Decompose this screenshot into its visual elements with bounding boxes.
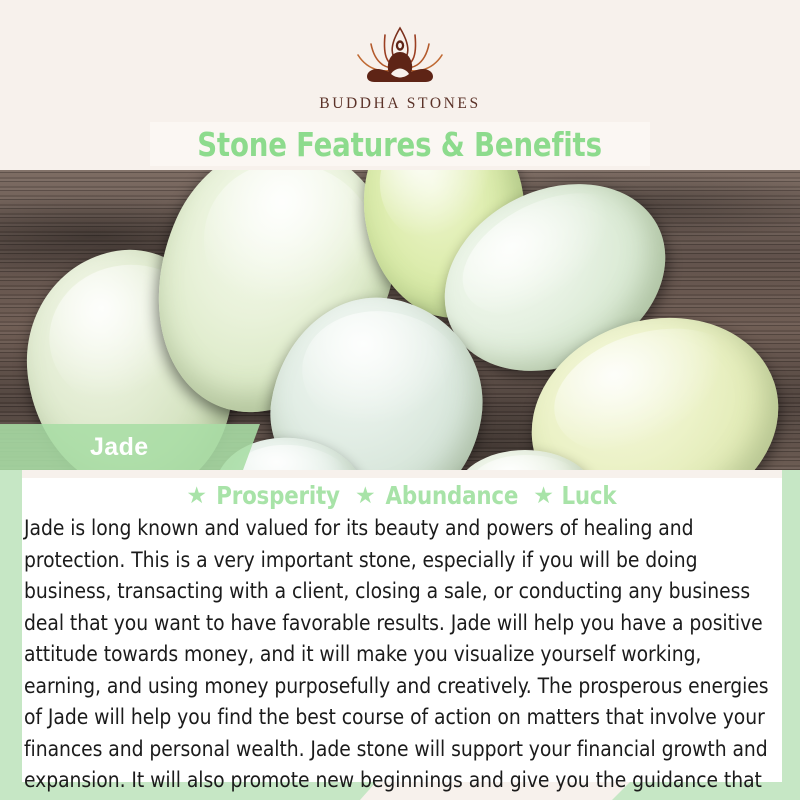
stone-name-bar: Jade xyxy=(0,424,260,470)
lotus-meditation-icon xyxy=(344,22,456,88)
page-title: Stone Features & Benefits xyxy=(198,125,603,164)
title-banner: Stone Features & Benefits xyxy=(150,122,650,166)
stone-description: Jade is long known and valued for its be… xyxy=(24,512,769,800)
star-icon: ★ xyxy=(186,484,207,507)
content-panel-top-gap xyxy=(22,470,782,478)
star-icon: ★ xyxy=(355,484,376,507)
benefit-item: ★ Abundance xyxy=(355,481,521,510)
benefit-label: Abundance xyxy=(385,481,518,510)
stone-name: Jade xyxy=(90,433,149,462)
benefits-row: ★ Prosperity ★ Abundance ★ Luck xyxy=(22,478,782,512)
brand-logo: BUDDHA STONES xyxy=(319,22,480,113)
stone-feature-poster: BUDDHA STONES Stone Features & Benefits … xyxy=(0,0,800,800)
benefit-label: Prosperity xyxy=(216,481,340,510)
brand-name: BUDDHA STONES xyxy=(319,95,480,113)
benefit-item: ★ Prosperity xyxy=(186,481,343,510)
benefit-item: ★ Luck xyxy=(533,481,617,510)
star-icon: ★ xyxy=(533,484,554,507)
benefit-label: Luck xyxy=(561,481,616,510)
